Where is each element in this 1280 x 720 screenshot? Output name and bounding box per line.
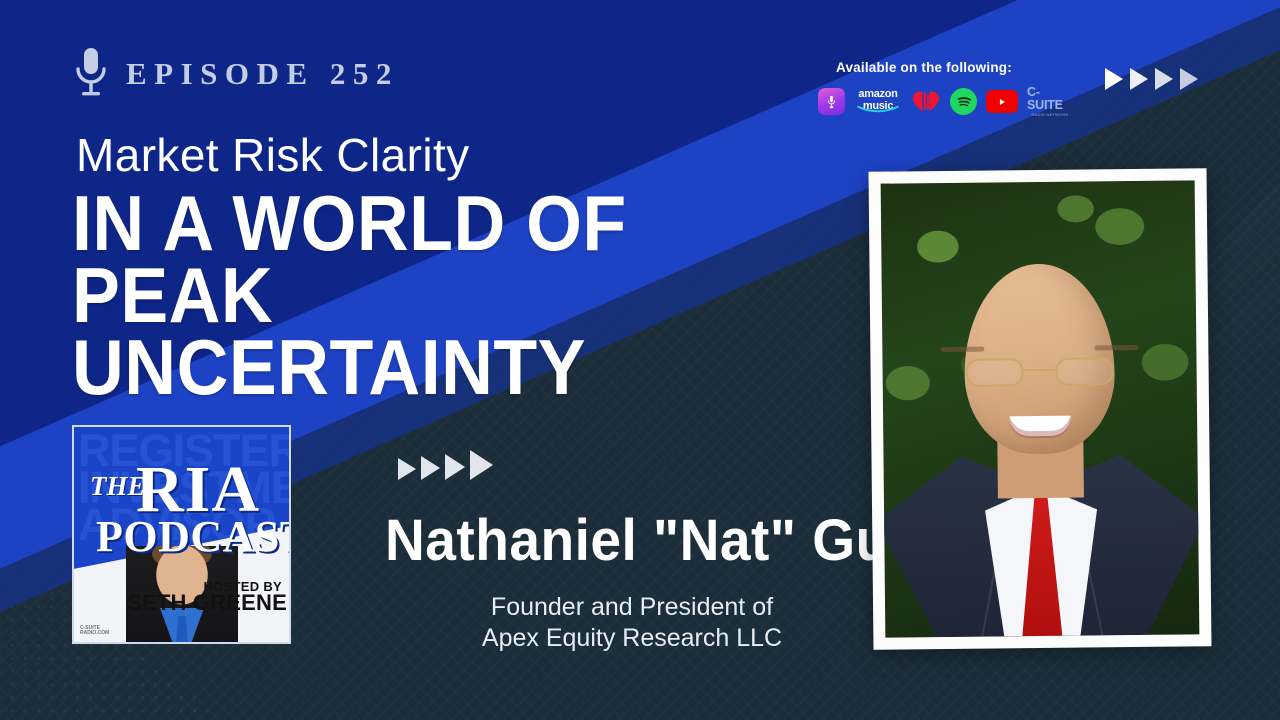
arrow-icon bbox=[445, 454, 465, 480]
c-suite-sublabel: RADIO NETWORK bbox=[1031, 113, 1068, 117]
glasses-lens-left bbox=[965, 358, 1023, 387]
c-suite-icon: C-SUITE RADIO NETWORK bbox=[1027, 89, 1073, 115]
logo-host-name: SETH GREENE bbox=[127, 590, 287, 616]
iheartradio-icon bbox=[911, 89, 941, 115]
arrow-icon bbox=[470, 450, 493, 480]
guest-portrait-photo bbox=[881, 180, 1200, 637]
spotify-icon bbox=[950, 88, 977, 115]
glasses-bridge bbox=[1024, 369, 1056, 371]
platform-badges: amazon music bbox=[818, 88, 1073, 115]
microphone-icon bbox=[70, 45, 112, 101]
episode-headline: IN A WORLD OF PEAK UNCERTAINTY bbox=[72, 188, 734, 403]
youtube-icon bbox=[986, 90, 1018, 113]
logo-credit: C-SUITE RADIO.COM bbox=[80, 626, 109, 638]
amazon-music-label-top: amazon bbox=[854, 89, 902, 101]
guest-role: Founder and President of Apex Equity Res… bbox=[372, 592, 892, 653]
platform-badge-amazon-music[interactable]: amazon music bbox=[854, 88, 902, 115]
glasses-lens-right bbox=[1055, 357, 1113, 386]
podcast-logo-badge[interactable]: REGISTERED INVESTMENT ADVISOR THE RIA PO… bbox=[72, 425, 291, 644]
arrow-icon bbox=[1105, 68, 1123, 90]
guest-portrait-frame bbox=[869, 168, 1212, 650]
c-suite-label: C-SUITE bbox=[1027, 86, 1073, 111]
guest-role-line-2: Apex Equity Research LLC bbox=[372, 623, 892, 654]
arrow-icon bbox=[1180, 68, 1198, 90]
decorative-arrows-top bbox=[1105, 68, 1198, 90]
guest-name: Nathaniel "Nat" Guild bbox=[385, 512, 879, 570]
portrait-glasses bbox=[965, 357, 1113, 389]
portrait-brow-left bbox=[940, 347, 984, 352]
episode-label: EPISODE 252 bbox=[126, 56, 399, 92]
arrow-icon bbox=[1155, 68, 1173, 90]
platform-badge-spotify[interactable] bbox=[950, 88, 977, 115]
arrow-icon bbox=[1130, 68, 1148, 90]
logo-credit-sub: RADIO.COM bbox=[80, 631, 109, 637]
decorative-arrows-middle bbox=[398, 450, 493, 480]
episode-kicker: Market Risk Clarity bbox=[76, 128, 470, 182]
portrait-brow-right bbox=[1094, 345, 1138, 350]
arrow-icon bbox=[398, 458, 416, 480]
platform-badge-apple-podcasts[interactable] bbox=[818, 88, 845, 115]
platform-badge-youtube[interactable] bbox=[986, 90, 1018, 113]
apple-podcasts-icon bbox=[818, 88, 845, 115]
guest-role-line-1: Founder and President of bbox=[491, 593, 773, 621]
headline-line-2: PEAK UNCERTAINTY bbox=[72, 260, 734, 404]
arrow-icon bbox=[421, 456, 440, 480]
platform-badge-iheartradio[interactable] bbox=[911, 89, 941, 115]
podcast-episode-cover: EPISODE 252 Available on the following: … bbox=[0, 0, 1280, 720]
platform-badge-c-suite[interactable]: C-SUITE RADIO NETWORK bbox=[1027, 89, 1073, 115]
availability-heading: Available on the following: bbox=[836, 60, 1012, 75]
amazon-music-icon: amazon music bbox=[854, 88, 902, 115]
logo-podcast: PODCAST bbox=[96, 511, 291, 562]
